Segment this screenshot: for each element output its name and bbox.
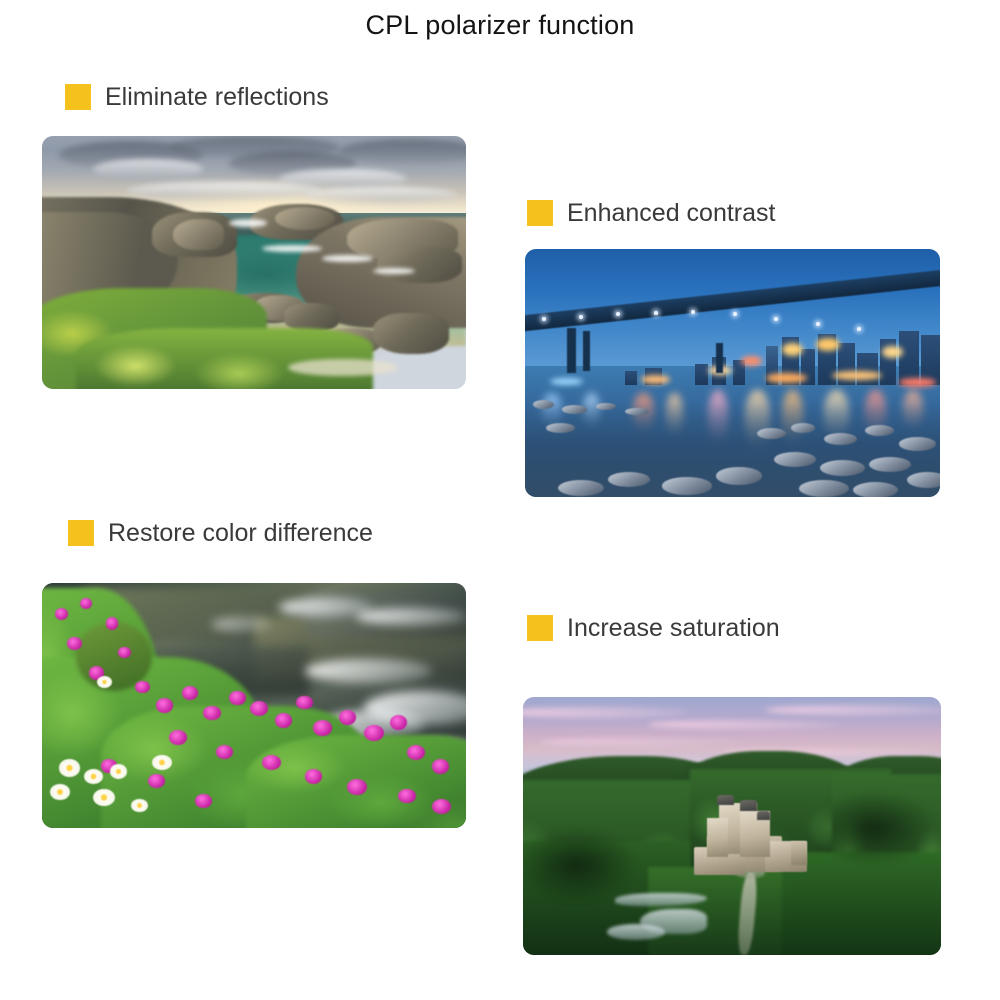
feature-label-restore-color-difference: Restore color difference xyxy=(68,518,373,548)
feature-label-eliminate-reflections: Eliminate reflections xyxy=(65,82,329,112)
castle-forest-valley-photo xyxy=(523,697,941,955)
photo-content xyxy=(42,136,466,389)
rocky-coastal-cove-photo xyxy=(42,136,466,389)
photo-content xyxy=(523,697,941,955)
feature-label-text: Increase saturation xyxy=(567,613,780,643)
yellow-square-bullet-icon xyxy=(65,84,91,110)
photo-content xyxy=(525,249,940,497)
yellow-square-bullet-icon xyxy=(68,520,94,546)
feature-label-text: Enhanced contrast xyxy=(567,198,775,228)
feature-label-text: Eliminate reflections xyxy=(105,82,329,112)
yellow-square-bullet-icon xyxy=(527,615,553,641)
blue-hour-city-bridge-photo xyxy=(525,249,940,497)
feature-label-increase-saturation: Increase saturation xyxy=(527,613,780,643)
feature-label-text: Restore color difference xyxy=(108,518,373,548)
yellow-square-bullet-icon xyxy=(527,200,553,226)
magenta-flowers-stream-photo xyxy=(42,583,466,828)
page-title: CPL polarizer function xyxy=(0,8,1000,42)
photo-content xyxy=(42,583,466,828)
feature-label-enhanced-contrast: Enhanced contrast xyxy=(527,198,775,228)
